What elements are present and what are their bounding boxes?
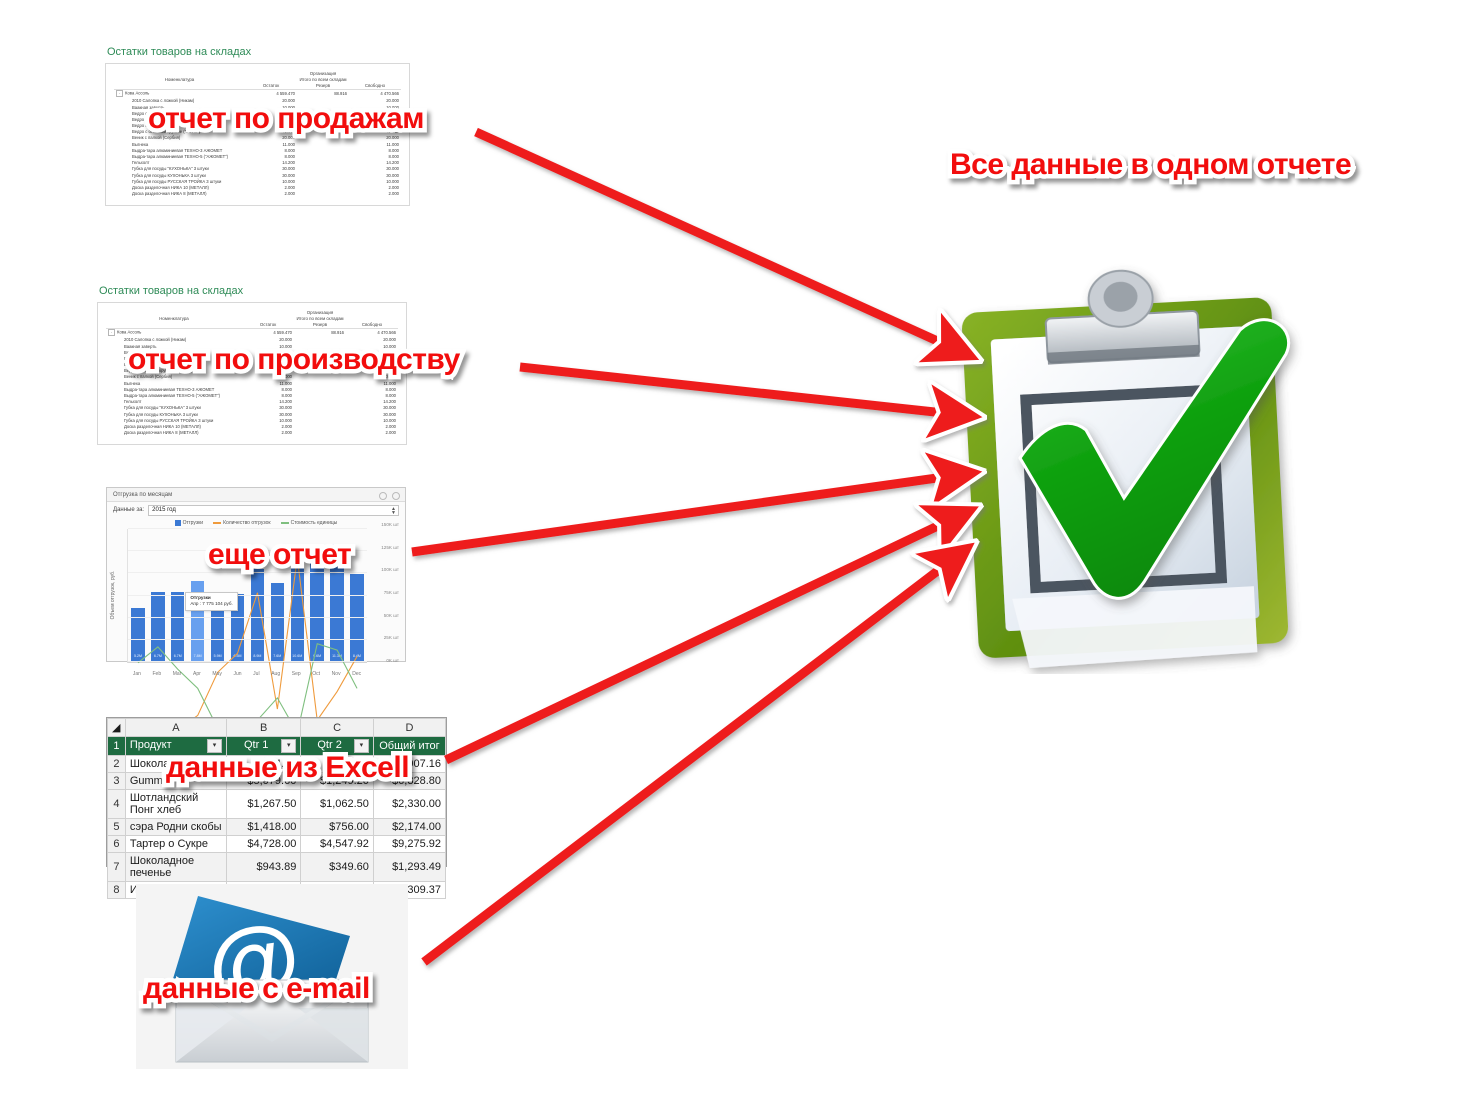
- cell-nomenclature: Доска разделочная НИКА 8 (МЕТАЛЛ): [106, 430, 242, 436]
- table-row[interactable]: 5сэра Родни скобы$1,418.00$756.00$2,174.…: [108, 819, 446, 836]
- x-tick-May: May: [212, 671, 221, 677]
- caption-excel-text: данные из Excell: [166, 753, 409, 783]
- legend-item-count: Количество отгрузок: [213, 520, 270, 526]
- y-axis-label: Объем отгрузок, руб.: [110, 571, 116, 620]
- table-row[interactable]: Доска разделочная НИКА 8 (МЕТАЛЛ)2.0002.…: [114, 191, 401, 197]
- x-tick-Feb: Feb: [153, 671, 162, 677]
- cell-value-0: 4 559.470: [245, 89, 297, 98]
- chart-window-title: Отгрузка по месяцам: [113, 492, 172, 498]
- arrow-excel: [446, 523, 944, 760]
- tooltip-value: Апр : 7 775 104 руб.: [190, 601, 232, 608]
- legend-swatch-orange: [213, 522, 221, 524]
- infographic-canvas: Остатки товаров на складах Организация Н…: [0, 0, 1463, 1120]
- row-header-2[interactable]: 2: [108, 756, 126, 773]
- cell-total[interactable]: $2,330.00: [373, 790, 445, 819]
- caption-email-text: данные с e-mail: [143, 974, 370, 1004]
- report-title-sales: Остатки товаров на складах: [105, 46, 410, 58]
- x-axis-labels: JanFebMarAprMayJunJulAugSepOctNovDec: [127, 671, 367, 677]
- x-tick-Oct: Oct: [312, 671, 320, 677]
- year-select-value: 2015 год: [152, 507, 176, 513]
- y-axis-right: 0K шт25K шт50K шт75K шт100K шт125K шт150…: [367, 527, 399, 663]
- cell-qtr1[interactable]: $4,728.00: [227, 836, 301, 853]
- y2-tick-1: 25K шт: [384, 635, 399, 640]
- row-header-7[interactable]: 7: [108, 853, 126, 882]
- x-tick-Sep: Sep: [292, 671, 301, 677]
- excel-column-headers: ◢ A B C D: [108, 719, 446, 737]
- table-row[interactable]: Доска разделочная НИКА 8 (МЕТАЛЛ)2.0002.…: [106, 430, 398, 436]
- filter-label: Данные за:: [113, 507, 144, 513]
- chart-window[interactable]: Отгрузка по месяцам Данные за: 2015 год …: [106, 487, 406, 662]
- row-header-1[interactable]: 1: [108, 737, 126, 756]
- arrow-more: [412, 477, 944, 552]
- legend-item-shipments: Отгрузки: [175, 520, 204, 526]
- y2-tick-5: 125K шт: [381, 545, 399, 550]
- gridline-1: [128, 639, 367, 640]
- col-header-b[interactable]: B: [227, 719, 301, 737]
- col-rezerv: Резерв: [294, 321, 346, 328]
- cell-qtr2[interactable]: $349.60: [301, 853, 374, 882]
- row-header-8[interactable]: 8: [108, 882, 126, 899]
- cell-qtr2[interactable]: $756.00: [301, 819, 374, 836]
- x-tick-Mar: Mar: [173, 671, 182, 677]
- gridline-4: [128, 572, 367, 573]
- cell-total[interactable]: $9,275.92: [373, 836, 445, 853]
- expand-collapse-icon[interactable]: -: [116, 90, 123, 97]
- cell-value-2: 2.000: [346, 430, 398, 436]
- cell-nomenclature: Выдра-тара алюминиевая ТЕХНО-5 ("АЖОМЕТ"…: [114, 153, 245, 159]
- col-svobodno: Свободно: [349, 82, 401, 89]
- clipboard-icon: [948, 262, 1333, 674]
- x-tick-Jun: Jun: [233, 671, 241, 677]
- x-tick-Nov: Nov: [332, 671, 341, 677]
- cell-value-2: 4 470.566: [349, 89, 401, 98]
- y2-tick-4: 100K шт: [381, 567, 399, 572]
- cell-total[interactable]: $2,174.00: [373, 819, 445, 836]
- x-tick-Jul: Jul: [253, 671, 259, 677]
- arrow-production: [520, 367, 944, 413]
- excel-table[interactable]: ◢ A B C D 1Продукт▾Qtr 1▾Qtr 2▾Общий ито…: [107, 718, 446, 899]
- cell-value-2: 2.000: [349, 191, 401, 197]
- cell-value-0: 2.000: [245, 191, 297, 197]
- cell-nomenclature: Доска разделочная НИКА 8 (МЕТАЛЛ): [114, 191, 245, 197]
- col-svobodno: Свободно: [346, 321, 398, 328]
- cell-value-0: 2.000: [242, 430, 294, 436]
- col-rezerv: Резерв: [297, 82, 349, 89]
- col-header-a[interactable]: A: [125, 719, 226, 737]
- report-title-production: Остатки товаров на складах: [97, 285, 407, 297]
- chart-tooltip: Отгрузки Апр : 7 775 104 руб.: [185, 592, 237, 611]
- legend-item-unitcost: Стоимость единицы: [281, 520, 338, 526]
- stepper-icon[interactable]: ▲▼: [391, 507, 396, 515]
- legend-label-shipments: Отгрузки: [183, 520, 204, 526]
- cell-value-1: [297, 191, 349, 197]
- cell-value-1: 88.916: [297, 89, 349, 98]
- table-header-cols: Остаток Резерв Свободно: [106, 321, 398, 328]
- cell-nomenclature: -Кова Ассоль: [114, 89, 245, 98]
- table-header-cols: Остаток Резерв Свободно: [114, 82, 401, 89]
- window-controls[interactable]: [376, 492, 400, 502]
- x-tick-Jan: Jan: [133, 671, 141, 677]
- cell-product[interactable]: Шотландский Понг хлеб: [125, 790, 226, 819]
- caption-more-text: еще отчет: [208, 540, 351, 570]
- excel-sheet[interactable]: ◢ A B C D 1Продукт▾Qtr 1▾Qtr 2▾Общий ито…: [106, 717, 447, 867]
- headline-text: Все данные в одном отчете: [950, 150, 1351, 180]
- table-row[interactable]: 7Шоколадное печенье$943.89$349.60$1,293.…: [108, 853, 446, 882]
- chart-window-titlebar: Отгрузка по месяцам: [107, 488, 405, 502]
- close-icon[interactable]: [392, 492, 400, 500]
- table-row[interactable]: 6Тартер о Сукре$4,728.00$4,547.92$9,275.…: [108, 836, 446, 853]
- cell-qtr1[interactable]: $1,418.00: [227, 819, 301, 836]
- cell-product[interactable]: Шоколадное печенье: [125, 853, 226, 882]
- tooltip-title: Отгрузки: [190, 595, 232, 602]
- legend-label-count: Количество отгрузок: [223, 520, 270, 526]
- cell-product[interactable]: сэра Родни скобы: [125, 819, 226, 836]
- cell-nomenclature: -Кова Ассоль: [106, 328, 242, 337]
- arrow-sales: [476, 132, 944, 344]
- gridline-6: [128, 528, 367, 529]
- expand-collapse-icon[interactable]: -: [108, 329, 115, 336]
- y2-tick-6: 150K шт: [381, 522, 399, 527]
- cell-qtr1[interactable]: $1,267.50: [227, 790, 301, 819]
- cell-qtr2[interactable]: $1,062.50: [301, 790, 374, 819]
- cell-value-2: 4 470.566: [346, 328, 398, 337]
- col-header-c[interactable]: C: [301, 719, 374, 737]
- line-shipment-count: [138, 558, 357, 740]
- x-tick-Apr: Apr: [193, 671, 201, 677]
- x-tick-Aug: Aug: [271, 671, 280, 677]
- caption-production-text: отчет по производству: [128, 345, 460, 375]
- chart-legend: Отгрузки Количество отгрузок Стоимость е…: [107, 518, 405, 527]
- row-header-4[interactable]: 4: [108, 790, 126, 819]
- arrow-email: [424, 566, 944, 962]
- gridline-2: [128, 617, 367, 618]
- cell-value-0: 4 559.470: [242, 328, 294, 337]
- legend-label-unitcost: Стоимость единицы: [291, 520, 338, 526]
- cell-value-1: [294, 430, 346, 436]
- caption-sales-text: отчет по продажам: [148, 104, 424, 134]
- table-row[interactable]: 4Шотландский Понг хлеб$1,267.50$1,062.50…: [108, 790, 446, 819]
- gridline-0: [128, 661, 367, 662]
- col-header-d[interactable]: D: [373, 719, 445, 737]
- col-ostatok: Остаток: [245, 82, 297, 89]
- row-header-5[interactable]: 5: [108, 819, 126, 836]
- cell-value-1: 88.916: [294, 328, 346, 337]
- y2-tick-3: 75K шт: [384, 590, 399, 595]
- table-row[interactable]: -Кова Ассоль4 559.47088.9164 470.566: [114, 89, 401, 98]
- row-header-6[interactable]: 6: [108, 836, 126, 853]
- y2-tick-0: 0K шт: [386, 658, 399, 663]
- legend-swatch-green: [281, 522, 289, 524]
- cell-qtr1[interactable]: $943.89: [227, 853, 301, 882]
- chart-toolbar[interactable]: Данные за: 2015 год ▲▼: [107, 502, 405, 518]
- cell-total[interactable]: $1,293.49: [373, 853, 445, 882]
- gridline-3: [128, 595, 367, 596]
- select-all-corner[interactable]: ◢: [108, 719, 126, 737]
- x-tick-Dec: Dec: [352, 671, 361, 677]
- y-axis-left: Объем отгрузок, руб.: [113, 527, 123, 663]
- minimize-icon[interactable]: [379, 492, 387, 500]
- y2-tick-2: 50K шт: [384, 613, 399, 618]
- cell-product[interactable]: Тартер о Сукре: [125, 836, 226, 853]
- col-ostatok: Остаток: [242, 321, 294, 328]
- row-header-3[interactable]: 3: [108, 773, 126, 790]
- clipboard-check-icon: [948, 262, 1333, 674]
- year-select[interactable]: 2015 год ▲▼: [148, 505, 399, 516]
- cell-qtr2[interactable]: $4,547.92: [301, 836, 374, 853]
- table-row[interactable]: -Кова Ассоль4 559.47088.9164 470.566: [106, 328, 398, 337]
- legend-swatch-bar: [175, 520, 181, 526]
